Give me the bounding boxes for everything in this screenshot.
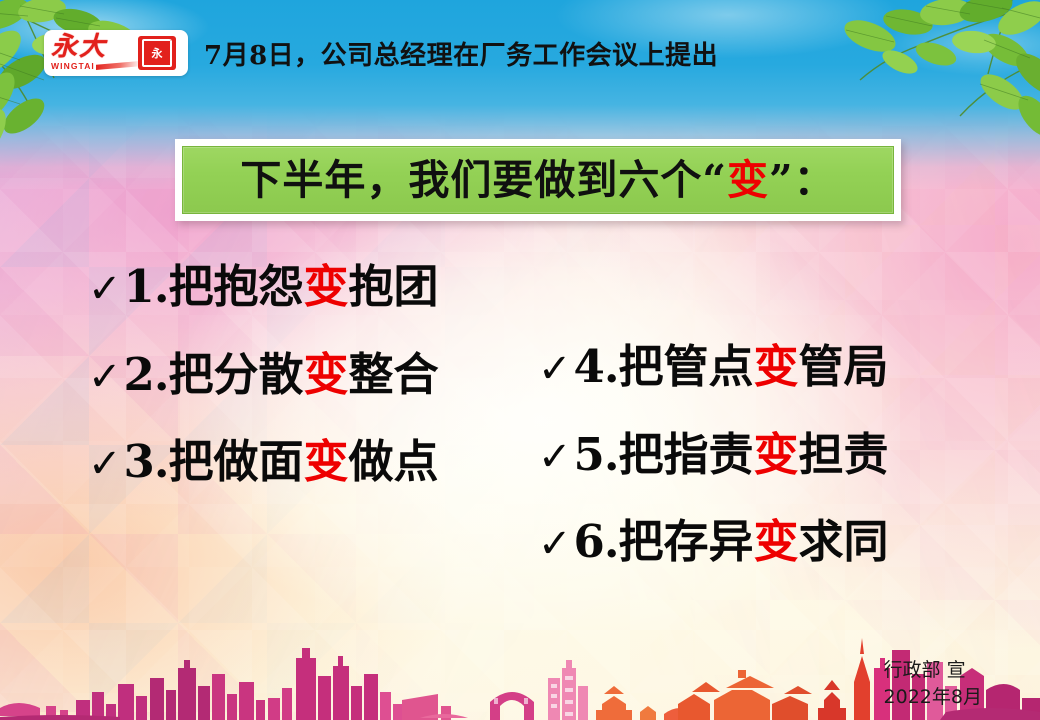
list-item-text-after: 求同 [799, 517, 889, 567]
checkmark-icon: ✓ [88, 444, 122, 484]
list-item: ✓6.把存异变求同 [538, 517, 889, 567]
list-item-highlight: 变 [754, 517, 799, 567]
list-item-text-before: 把指责 [619, 430, 754, 480]
list-item: ✓4.把管点变管局 [538, 342, 889, 392]
list-item: ✓1.把抱怨变抱团 [88, 262, 439, 312]
logo-chinese-name: 永大 [51, 35, 136, 60]
list-item-text-after: 管局 [799, 342, 889, 392]
presentation-slide: 永大 WINGTAI 永 ® 7月8日，公司总经理在厂务工作会议上提出 下半年，… [0, 0, 1040, 720]
logo-wordmark: 永大 WINGTAI [44, 30, 136, 76]
list-item-text-before: 把存异 [619, 517, 754, 567]
slide-header: 永大 WINGTAI 永 ® 7月8日，公司总经理在厂务工作会议上提出 [0, 30, 718, 76]
list-item: ✓2.把分散变整合 [88, 350, 439, 400]
banner-suffix: ”： [769, 156, 836, 204]
list-item-highlight: 变 [754, 342, 799, 392]
title-banner-text: 下半年，我们要做到六个“变”： [240, 160, 835, 201]
list-item-text-before: 把做面 [169, 437, 304, 487]
list-column-left: ✓1.把抱怨变抱团 ✓2.把分散变整合 ✓3.把做面变做点 [88, 262, 439, 487]
list-item-highlight: 变 [304, 262, 349, 312]
checkmark-icon: ✓ [538, 349, 572, 389]
checkmark-icon: ✓ [538, 437, 572, 477]
list-item-number: 6. [574, 517, 619, 567]
company-logo: 永大 WINGTAI 永 ® [44, 30, 188, 76]
list-item-number: 1. [124, 262, 169, 312]
title-banner: 下半年，我们要做到六个“变”： [175, 139, 901, 221]
list-item-highlight: 变 [754, 430, 799, 480]
list-column-right: ✓4.把管点变管局 ✓5.把指责变担责 ✓6.把存异变求同 [538, 342, 889, 567]
checkmark-icon: ✓ [88, 269, 122, 309]
list-item: ✓5.把指责变担责 [538, 430, 889, 480]
list-item-text-before: 把分散 [169, 350, 304, 400]
registered-trademark-icon: ® [170, 37, 174, 43]
list-item-text-after: 抱团 [349, 262, 439, 312]
list-item-highlight: 变 [304, 437, 349, 487]
list-item-number: 3. [124, 437, 169, 487]
footer-date: 2022年8月 [884, 684, 982, 712]
checkmark-icon: ✓ [538, 524, 572, 564]
list-item-text-before: 把抱怨 [169, 262, 304, 312]
banner-highlight: 变 [727, 156, 769, 204]
list-item-text-before: 把管点 [619, 342, 754, 392]
list-item-number: 4. [574, 342, 619, 392]
footer-department: 行政部 宣 [884, 657, 982, 685]
logo-emblem-glyph: 永 [142, 39, 172, 67]
banner-prefix: 下半年，我们要做到六个“ [240, 156, 727, 204]
logo-emblem-icon: 永 ® [138, 36, 176, 70]
title-banner-inner: 下半年，我们要做到六个“变”： [182, 146, 894, 214]
list-item-highlight: 变 [304, 350, 349, 400]
header-title: 7月8日，公司总经理在厂务工作会议上提出 [204, 35, 718, 72]
list-item-text-after: 担责 [799, 430, 889, 480]
list-item-number: 5. [574, 430, 619, 480]
list-item-text-after: 做点 [349, 437, 439, 487]
footer-credit: 行政部 宣 2022年8月 [884, 657, 982, 712]
list-item: ✓3.把做面变做点 [88, 437, 439, 487]
list-item-number: 2. [124, 350, 169, 400]
checkmark-icon: ✓ [88, 357, 122, 397]
list-item-text-after: 整合 [349, 350, 439, 400]
